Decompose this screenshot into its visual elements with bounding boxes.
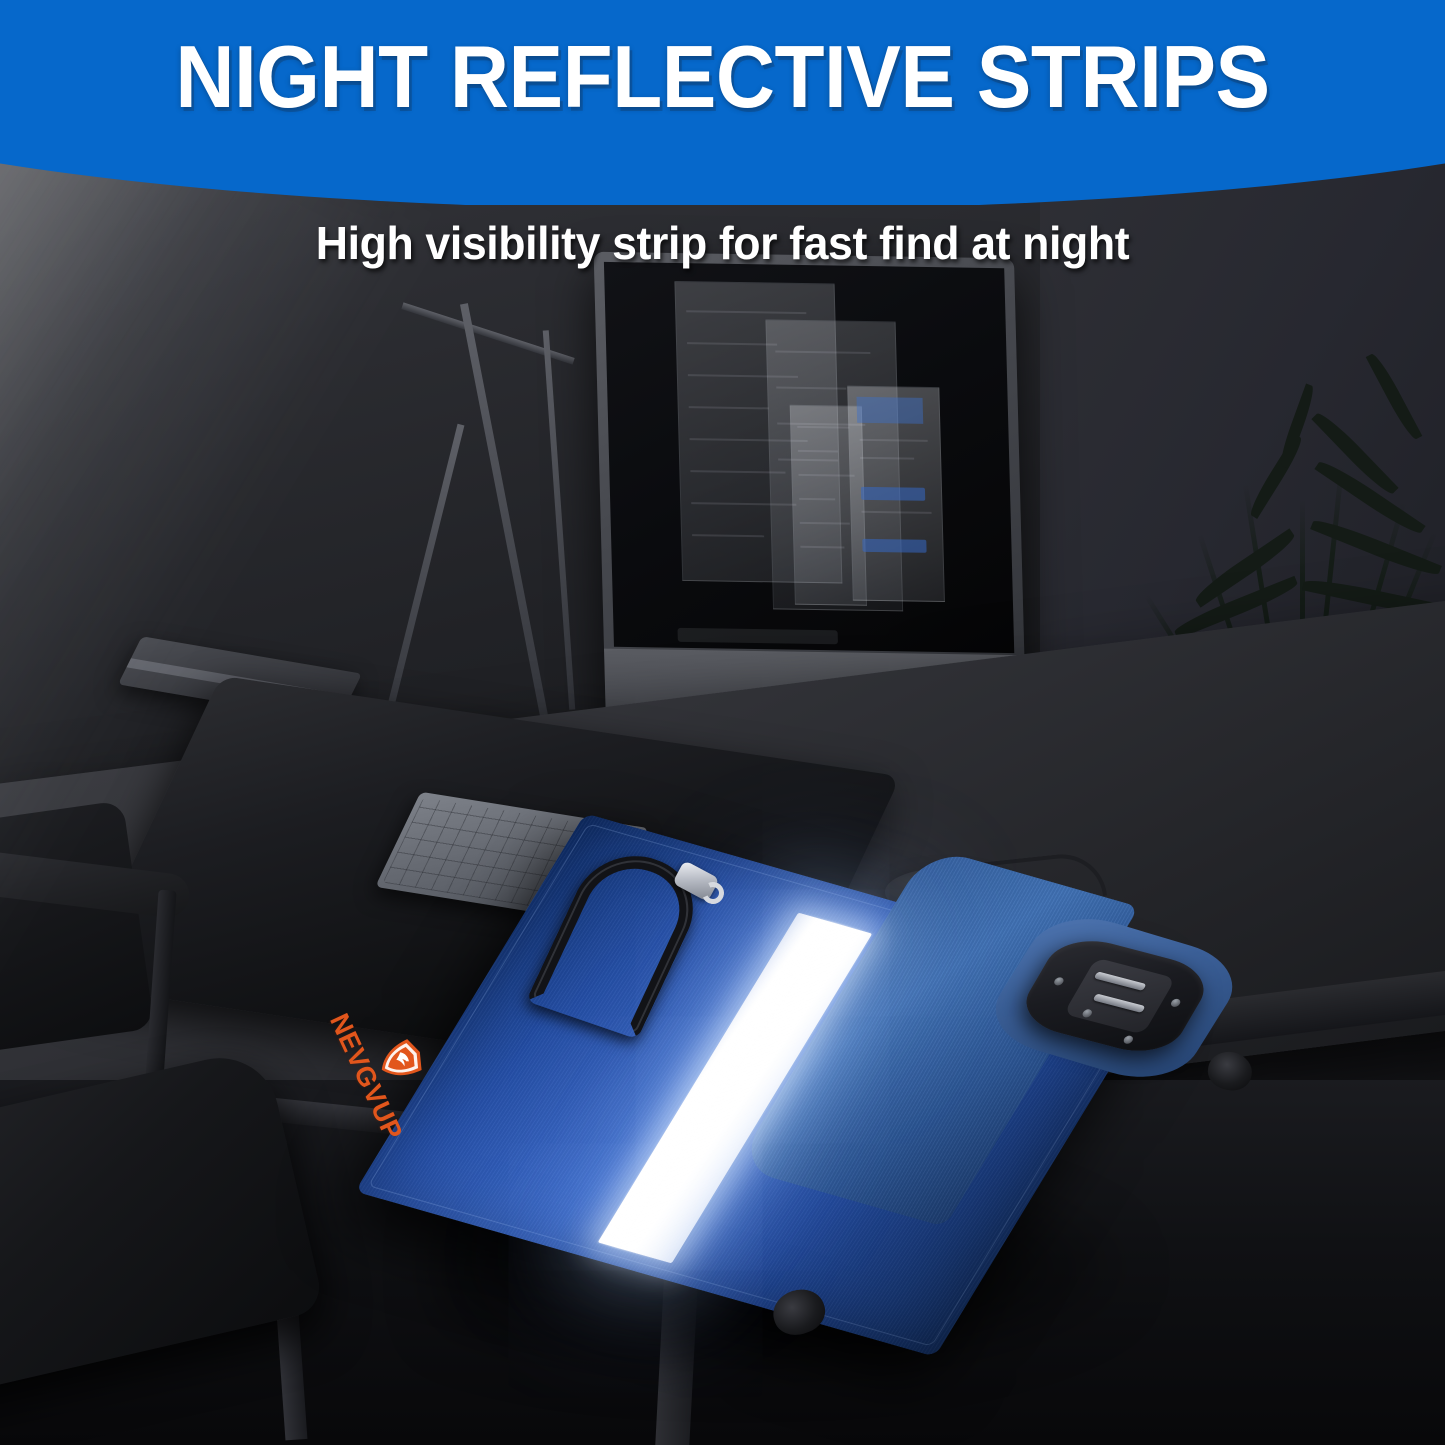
fireproof-document-bag[interactable] bbox=[440, 860, 1260, 1380]
screen-dock bbox=[677, 628, 837, 645]
lock-rivet bbox=[1169, 998, 1182, 1008]
page-subtitle: High visibility strip for fast find at n… bbox=[22, 216, 1424, 270]
lock-dial-block[interactable] bbox=[1063, 958, 1175, 1035]
page-title: NIGHT REFLECTIVE STRIPS bbox=[51, 26, 1395, 128]
screen-window-front bbox=[847, 386, 945, 602]
lock-dial[interactable] bbox=[1094, 971, 1147, 991]
lock-rivet bbox=[1053, 976, 1066, 986]
product-marketing-poster: NEVGVUP NIGHT REFLECTIVE STRIPS High vis… bbox=[0, 0, 1445, 1445]
corner-bumper bbox=[1205, 1048, 1256, 1094]
lock-rivet bbox=[1122, 1035, 1135, 1045]
lock-dial[interactable] bbox=[1093, 993, 1146, 1013]
monitor-screen bbox=[604, 262, 1014, 653]
